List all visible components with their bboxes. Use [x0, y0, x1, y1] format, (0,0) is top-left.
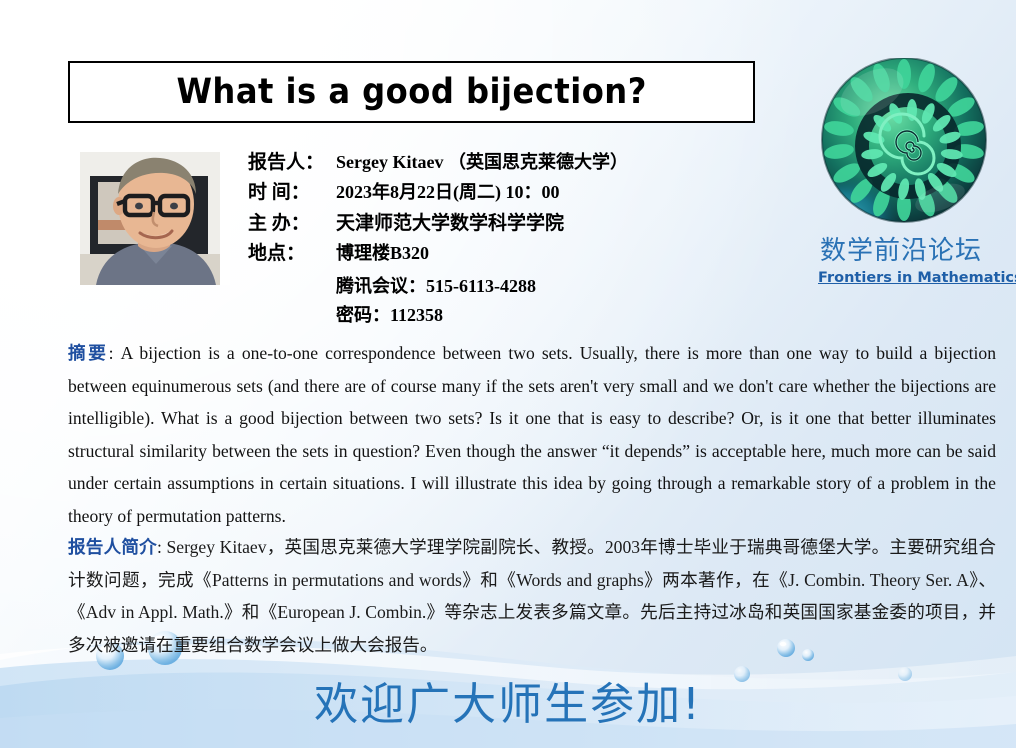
- event-info-block: 报告人： Sergey Kitaev （英国思克莱德大学） 时 间： 2023年…: [248, 150, 768, 327]
- seminar-poster: What is a good bijection?: [0, 0, 1016, 748]
- info-row-venue: 地点： 博理楼B320: [248, 241, 768, 266]
- info-row-speaker: 报告人： Sergey Kitaev （英国思克莱德大学）: [248, 150, 768, 175]
- logo-title-en: Frontiers in Mathematics: [818, 270, 990, 286]
- abstract-block: 摘要: A bijection is a one-to-one correspo…: [68, 337, 996, 532]
- info-value-organizer: 天津师范大学数学科学学院: [336, 211, 564, 236]
- bio-label: 报告人简介: [68, 537, 157, 557]
- info-value-time: 2023年8月22日(周二) 10：00: [336, 180, 560, 204]
- logo-title-cn: 数学前沿论坛: [812, 230, 990, 267]
- forum-logo: 数学前沿论坛 Frontiers in Mathematics: [818, 58, 990, 286]
- info-meeting-id: 腾讯会议：515-6113-4288: [336, 272, 768, 298]
- info-label-organizer: 主 办：: [248, 211, 336, 236]
- abstract-text: A bijection is a one-to-one corresponden…: [68, 343, 996, 526]
- welcome-message: 欢迎广大师生参加!: [0, 668, 1016, 732]
- info-label-time: 时 间：: [248, 180, 336, 205]
- info-value-venue: 博理楼B320: [336, 241, 429, 265]
- bio-block: 报告人简介: Sergey Kitaev，英国思克莱德大学理学院副院长、教授。2…: [68, 531, 996, 661]
- avatar: [68, 146, 230, 285]
- info-value-speaker: Sergey Kitaev （英国思克莱德大学）: [336, 150, 628, 174]
- info-meeting-password: 密码：112358: [336, 301, 768, 327]
- poster-title-box: What is a good bijection?: [68, 61, 755, 123]
- info-row-organizer: 主 办： 天津师范大学数学科学学院: [248, 211, 768, 236]
- abstract-separator: :: [109, 343, 121, 363]
- info-label-venue: 地点：: [248, 241, 336, 266]
- fractal-spiral-icon: [820, 58, 988, 224]
- abstract-label: 摘要: [68, 343, 109, 363]
- bio-text: Sergey Kitaev，英国思克莱德大学理学院副院长、教授。2003年博士毕…: [68, 537, 996, 655]
- info-row-time: 时 间： 2023年8月22日(周二) 10：00: [248, 180, 768, 205]
- speaker-portrait-icon: [68, 146, 230, 285]
- info-label-speaker: 报告人：: [248, 150, 336, 175]
- page-title: What is a good bijection?: [176, 72, 646, 112]
